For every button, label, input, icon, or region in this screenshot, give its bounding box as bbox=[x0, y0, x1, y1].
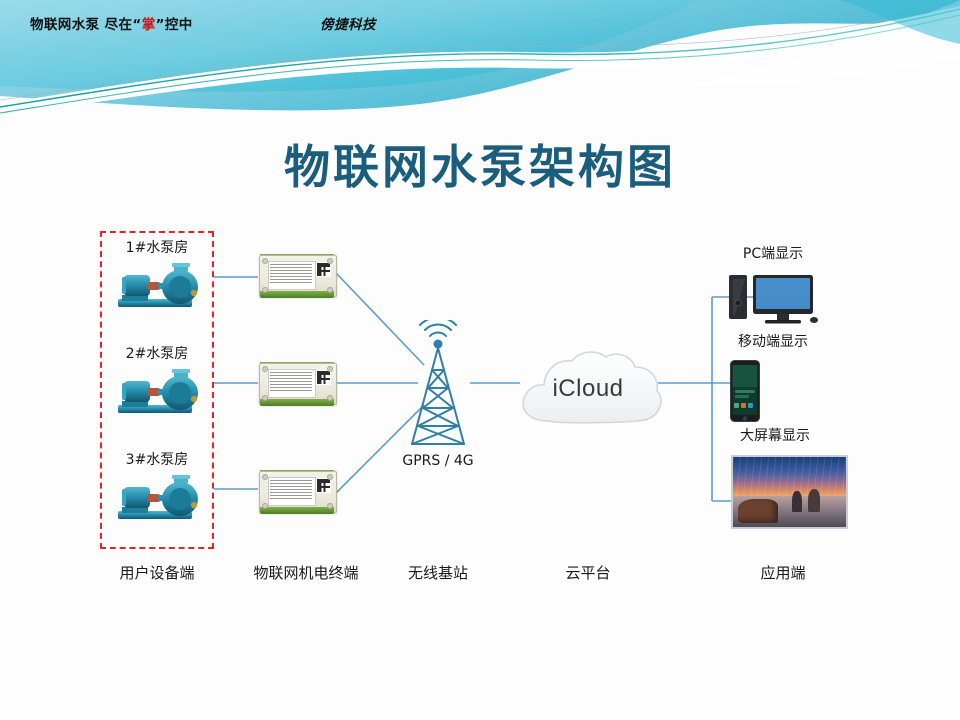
terminal-screw bbox=[327, 258, 333, 264]
terminal-screw bbox=[262, 366, 268, 372]
terminal-sticker-text bbox=[270, 264, 312, 285]
terminal-qr-code bbox=[316, 478, 331, 493]
cell-tower-icon bbox=[392, 320, 484, 450]
terminal-screw bbox=[262, 474, 268, 480]
tagline-quote-close: ” bbox=[156, 17, 165, 33]
iot-terminal-1 bbox=[259, 251, 335, 301]
output-label-bigscreen: 大屏幕显示 bbox=[702, 425, 848, 445]
terminal-bottom-rail bbox=[260, 507, 334, 514]
terminal-sticker-text bbox=[270, 372, 312, 393]
output-label-pc: PC端显示 bbox=[710, 243, 836, 263]
pump-icon-3 bbox=[112, 473, 204, 525]
display-rock bbox=[738, 499, 779, 523]
large-display-icon bbox=[731, 455, 848, 529]
smartphone-icon bbox=[730, 360, 760, 422]
stage-label-iot-terminal: 物联网机电终端 bbox=[222, 562, 390, 583]
cloud-icon: iCloud bbox=[512, 345, 664, 437]
terminal-screw bbox=[262, 287, 268, 293]
iot-terminal-3 bbox=[259, 467, 335, 517]
tagline-pre: 物联网水泵 尽在 bbox=[30, 17, 132, 33]
terminal-bottom-rail bbox=[260, 291, 334, 298]
stage-label-cloud: 云平台 bbox=[528, 562, 648, 583]
brand-name: 傍捷科技 bbox=[320, 13, 376, 33]
pump-label-2: 2#水泵房 bbox=[100, 343, 214, 363]
terminal-screw bbox=[327, 395, 333, 401]
terminal-qr-code bbox=[316, 262, 331, 277]
stage-label-application: 应用端 bbox=[718, 562, 848, 583]
terminal-qr-code bbox=[316, 370, 331, 385]
stage-label-base-station: 无线基站 bbox=[378, 562, 498, 583]
tagline-post: 控中 bbox=[165, 17, 193, 33]
terminal-bottom-rail bbox=[260, 399, 334, 406]
cloud-label: iCloud bbox=[512, 375, 664, 403]
desktop-computer-icon bbox=[727, 273, 819, 327]
pump-label-1: 1#水泵房 bbox=[100, 237, 214, 257]
terminal-sticker-text bbox=[270, 480, 312, 501]
tagline-quote-open: “ bbox=[132, 17, 141, 33]
header-tagline: 物联网水泵 尽在“掌”控中 bbox=[30, 13, 193, 33]
terminal-screw bbox=[262, 503, 268, 509]
terminal-screw bbox=[327, 503, 333, 509]
stage-label-user-device: 用户设备端 bbox=[92, 562, 222, 583]
pump-icon-1 bbox=[112, 261, 204, 313]
terminal-screw bbox=[262, 395, 268, 401]
tower-label: GPRS / 4G bbox=[382, 453, 494, 469]
architecture-diagram: 1#水泵房 bbox=[0, 215, 960, 615]
terminal-screw bbox=[327, 474, 333, 480]
page-title: 物联网水泵架构图 bbox=[0, 131, 960, 197]
terminal-screw bbox=[327, 287, 333, 293]
display-star-trails bbox=[733, 457, 846, 496]
iot-terminal-2 bbox=[259, 359, 335, 409]
display-rock bbox=[808, 489, 820, 513]
slide-canvas: 物联网水泵 尽在“掌”控中 傍捷科技 物联网水泵架构图 bbox=[0, 0, 960, 720]
tagline-highlight: 掌 bbox=[142, 17, 156, 33]
header-banner: 物联网水泵 尽在“掌”控中 傍捷科技 bbox=[0, 0, 960, 118]
pump-label-3: 3#水泵房 bbox=[100, 449, 214, 469]
terminal-screw bbox=[262, 258, 268, 264]
terminal-screw bbox=[327, 366, 333, 372]
output-label-mobile: 移动端显示 bbox=[700, 331, 846, 351]
pump-icon-2 bbox=[112, 367, 204, 419]
display-rock bbox=[792, 491, 802, 512]
